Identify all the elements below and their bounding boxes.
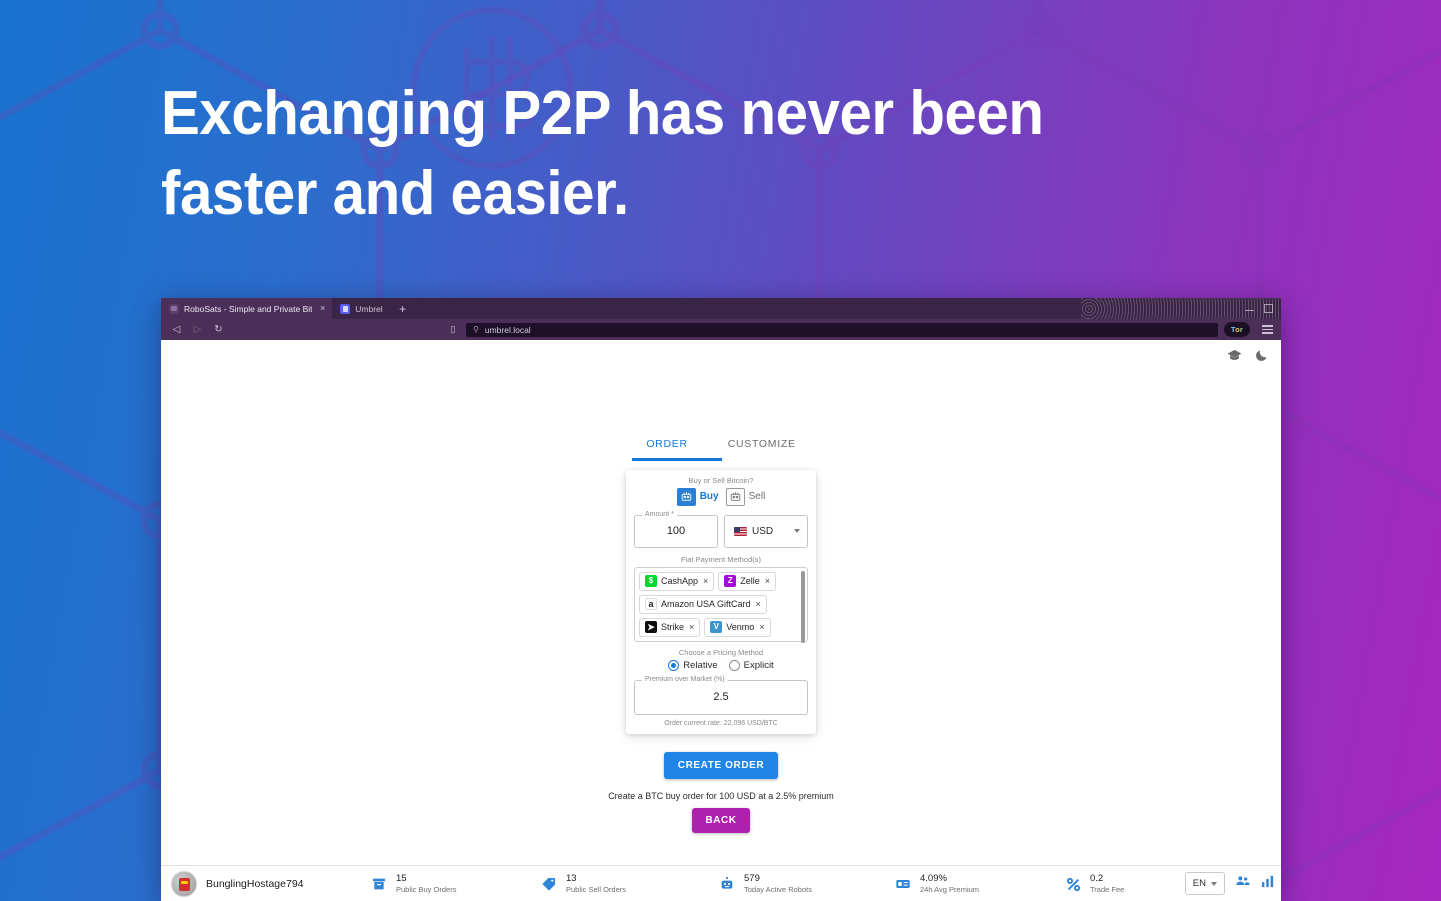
payment-method-chip[interactable]: a Amazon USA GiftCard × [639,595,767,614]
currency-select[interactable]: USD [724,515,808,548]
buy-option[interactable]: Buy [677,488,719,506]
amount-input-value: 100 [667,525,685,537]
payment-method-chip[interactable]: ➤ Strike × [639,618,700,637]
pricing-option-relative[interactable]: Relative [668,660,717,671]
currency-select-inner: USD [734,526,773,537]
close-icon[interactable]: × [320,304,325,313]
tab-strip-spacer [416,298,1081,319]
currency-code: USD [752,526,773,537]
avatar[interactable] [171,871,197,897]
stat-text: 0.2 Trade Fee [1090,873,1124,894]
stat-today-active-robots: 579 Today Active Robots [719,873,895,894]
profile-block[interactable]: BunglingHostage794 [171,871,371,897]
browser-tab-robosats[interactable]: RoboSats - Simple and Private Bit × [161,298,332,319]
payment-method-label: Strike [661,622,684,632]
robot-icon [719,876,735,892]
stat-text: 4.09% 24h Avg Premium [920,873,979,894]
remove-icon[interactable]: × [759,622,764,632]
remove-icon[interactable]: × [756,599,761,609]
stat-text: 13 Public Sell Orders [566,873,626,894]
learn-icon[interactable] [1227,348,1242,363]
strike-icon: ➤ [645,621,657,633]
browser-window: RoboSats - Simple and Private Bit × Umbr… [161,298,1281,901]
pricing-option-label: Relative [683,660,717,671]
stat-value: 13 [566,873,626,885]
current-rate-note: Order current rate: 22,096 USD/BTC [634,720,808,727]
browser-tab-title: RoboSats - Simple and Private Bit [184,304,312,314]
robosats-favicon [169,304,179,314]
payment-method-label: Amazon USA GiftCard [661,599,751,609]
buy-sell-caption: Buy or Sell Bitcoin? [634,476,808,485]
reload-icon[interactable]: ↻ [211,325,226,335]
chevron-down-icon [1211,882,1217,886]
buy-sell-toggle: Buy Sell [634,488,808,506]
order-form-card: Buy or Sell Bitcoin? Buy [626,470,816,734]
sell-option[interactable]: Sell [726,488,766,506]
premium-field-label: Premium over Market (%) [642,676,728,683]
search-icon: ⚲ [473,325,479,334]
back-navigation-icon[interactable]: ◁ [169,325,184,335]
language-value: EN [1193,878,1206,889]
payment-method-chip[interactable]: $ CashApp × [639,572,714,591]
percent-icon [1065,876,1081,892]
stat-label: Public Sell Orders [566,885,626,894]
minimize-icon[interactable] [1245,306,1254,311]
stat-value: 579 [744,873,812,885]
dark-mode-icon[interactable] [1254,348,1269,363]
umbrel-favicon [340,304,350,314]
stat-value: 0.2 [1090,873,1124,885]
address-input-value: umbrel.local [485,325,531,335]
sell-label: Sell [749,491,766,502]
tor-badge-r: r [1240,325,1243,334]
robot-buy-icon [677,488,696,506]
tab-order[interactable]: ORDER [626,432,707,459]
pricing-option-explicit[interactable]: Explicit [729,660,774,671]
usa-flag-icon [734,527,747,536]
order-summary-text: Create a BTC buy order for 100 USD at a … [161,791,1281,801]
payment-method-label: Venmo [726,622,754,632]
restore-icon[interactable] [1264,304,1273,313]
stat-label: 24h Avg Premium [920,885,979,894]
pricing-option-label: Explicit [744,660,774,671]
remove-icon[interactable]: × [689,622,694,632]
stats-icon[interactable] [1260,874,1275,894]
robot-sell-icon [726,488,745,506]
premium-field[interactable]: Premium over Market (%) 2.5 [634,680,808,715]
stat-public-sell-orders: 13 Public Sell Orders [541,873,719,894]
promo-headline-line-2: faster and easier. [161,154,1110,234]
tor-badge[interactable]: Tor [1224,322,1250,337]
buy-label: Buy [700,491,719,502]
order-tabs: ORDER CUSTOMIZE [161,432,1281,459]
stat-trade-fee: 0.2 Trade Fee [1065,873,1175,894]
buy-orders-icon [371,876,387,892]
address-input[interactable]: ⚲ umbrel.local [466,323,1218,337]
pricing-method-radio-group: Relative Explicit [634,660,808,671]
premium-input-value: 2.5 [713,691,728,703]
venmo-icon: V [710,621,722,633]
amazon-icon: a [645,598,657,610]
browser-tab-umbrel[interactable]: Umbrel [332,298,389,319]
zelle-icon: Z [724,575,736,587]
promo-headline: Exchanging P2P has never been faster and… [161,74,1110,234]
reader-mode-icon[interactable]: ▯ [446,324,460,335]
statusbar-right-icons [1235,873,1275,894]
amount-field[interactable]: Amount * 100 [634,515,718,548]
stat-label: Today Active Robots [744,885,812,894]
remove-icon[interactable]: × [765,576,770,586]
browser-url-bar: ◁ ▷ ↻ ▯ ⚲ umbrel.local Tor [161,319,1281,340]
payment-method-label: Zelle [740,576,760,586]
payment-method-chip[interactable]: V Venmo × [704,618,770,637]
tab-active-underline [632,458,722,461]
forward-navigation-icon[interactable]: ▷ [190,325,205,335]
stat-text: 15 Public Buy Orders [396,873,456,894]
status-bar: BunglingHostage794 15 Public Buy Orders [161,865,1281,901]
stat-24h-avg-premium: 4.09% 24h Avg Premium [895,873,1065,894]
hamburger-menu-icon[interactable] [1262,325,1273,334]
window-controls [1081,298,1281,319]
stat-public-buy-orders: 15 Public Buy Orders [371,873,541,894]
tab-customize[interactable]: CUSTOMIZE [708,432,816,459]
promo-headline-line-1: Exchanging P2P has never been [161,74,1110,154]
amount-currency-row: Amount * 100 USD [634,515,808,548]
stat-text: 579 Today Active Robots [744,873,812,894]
radio-checked-icon [668,660,679,671]
stat-label: Public Buy Orders [396,885,456,894]
browser-tab-title: Umbrel [355,304,382,314]
radio-unchecked-icon [729,660,740,671]
fiat-scrollbar[interactable] [801,571,805,643]
stat-value: 4.09% [920,873,979,885]
language-select[interactable]: EN [1185,872,1225,895]
payment-method-label: CashApp [661,576,698,586]
amount-field-label: Amount * [642,511,677,518]
browser-tab-strip: RoboSats - Simple and Private Bit × Umbr… [161,298,1281,319]
stat-value: 15 [396,873,456,885]
chevron-down-icon [794,529,800,533]
page-content: ORDER CUSTOMIZE Buy or Sell Bitcoin? Buy [161,340,1281,901]
pricing-method-caption: Choose a Pricing Method [634,648,808,657]
sell-orders-icon [541,876,557,892]
page-top-icons [1227,348,1269,363]
community-icon[interactable] [1235,873,1251,894]
banknote-icon [895,876,911,892]
new-tab-button[interactable]: + [390,298,416,319]
back-button[interactable]: BACK [692,808,751,833]
nickname: BunglingHostage794 [206,878,304,890]
cashapp-icon: $ [645,575,657,587]
payment-method-chip[interactable]: Z Zelle × [718,572,776,591]
fiat-payment-caption: Fiat Payment Method(s) [634,555,808,564]
fiat-payment-methods[interactable]: $ CashApp × Z Zelle × a Amazon USA GiftC… [634,567,808,642]
remove-icon[interactable]: × [703,576,708,586]
create-order-button[interactable]: CREATE ORDER [664,752,778,779]
stat-label: Trade Fee [1090,885,1124,894]
